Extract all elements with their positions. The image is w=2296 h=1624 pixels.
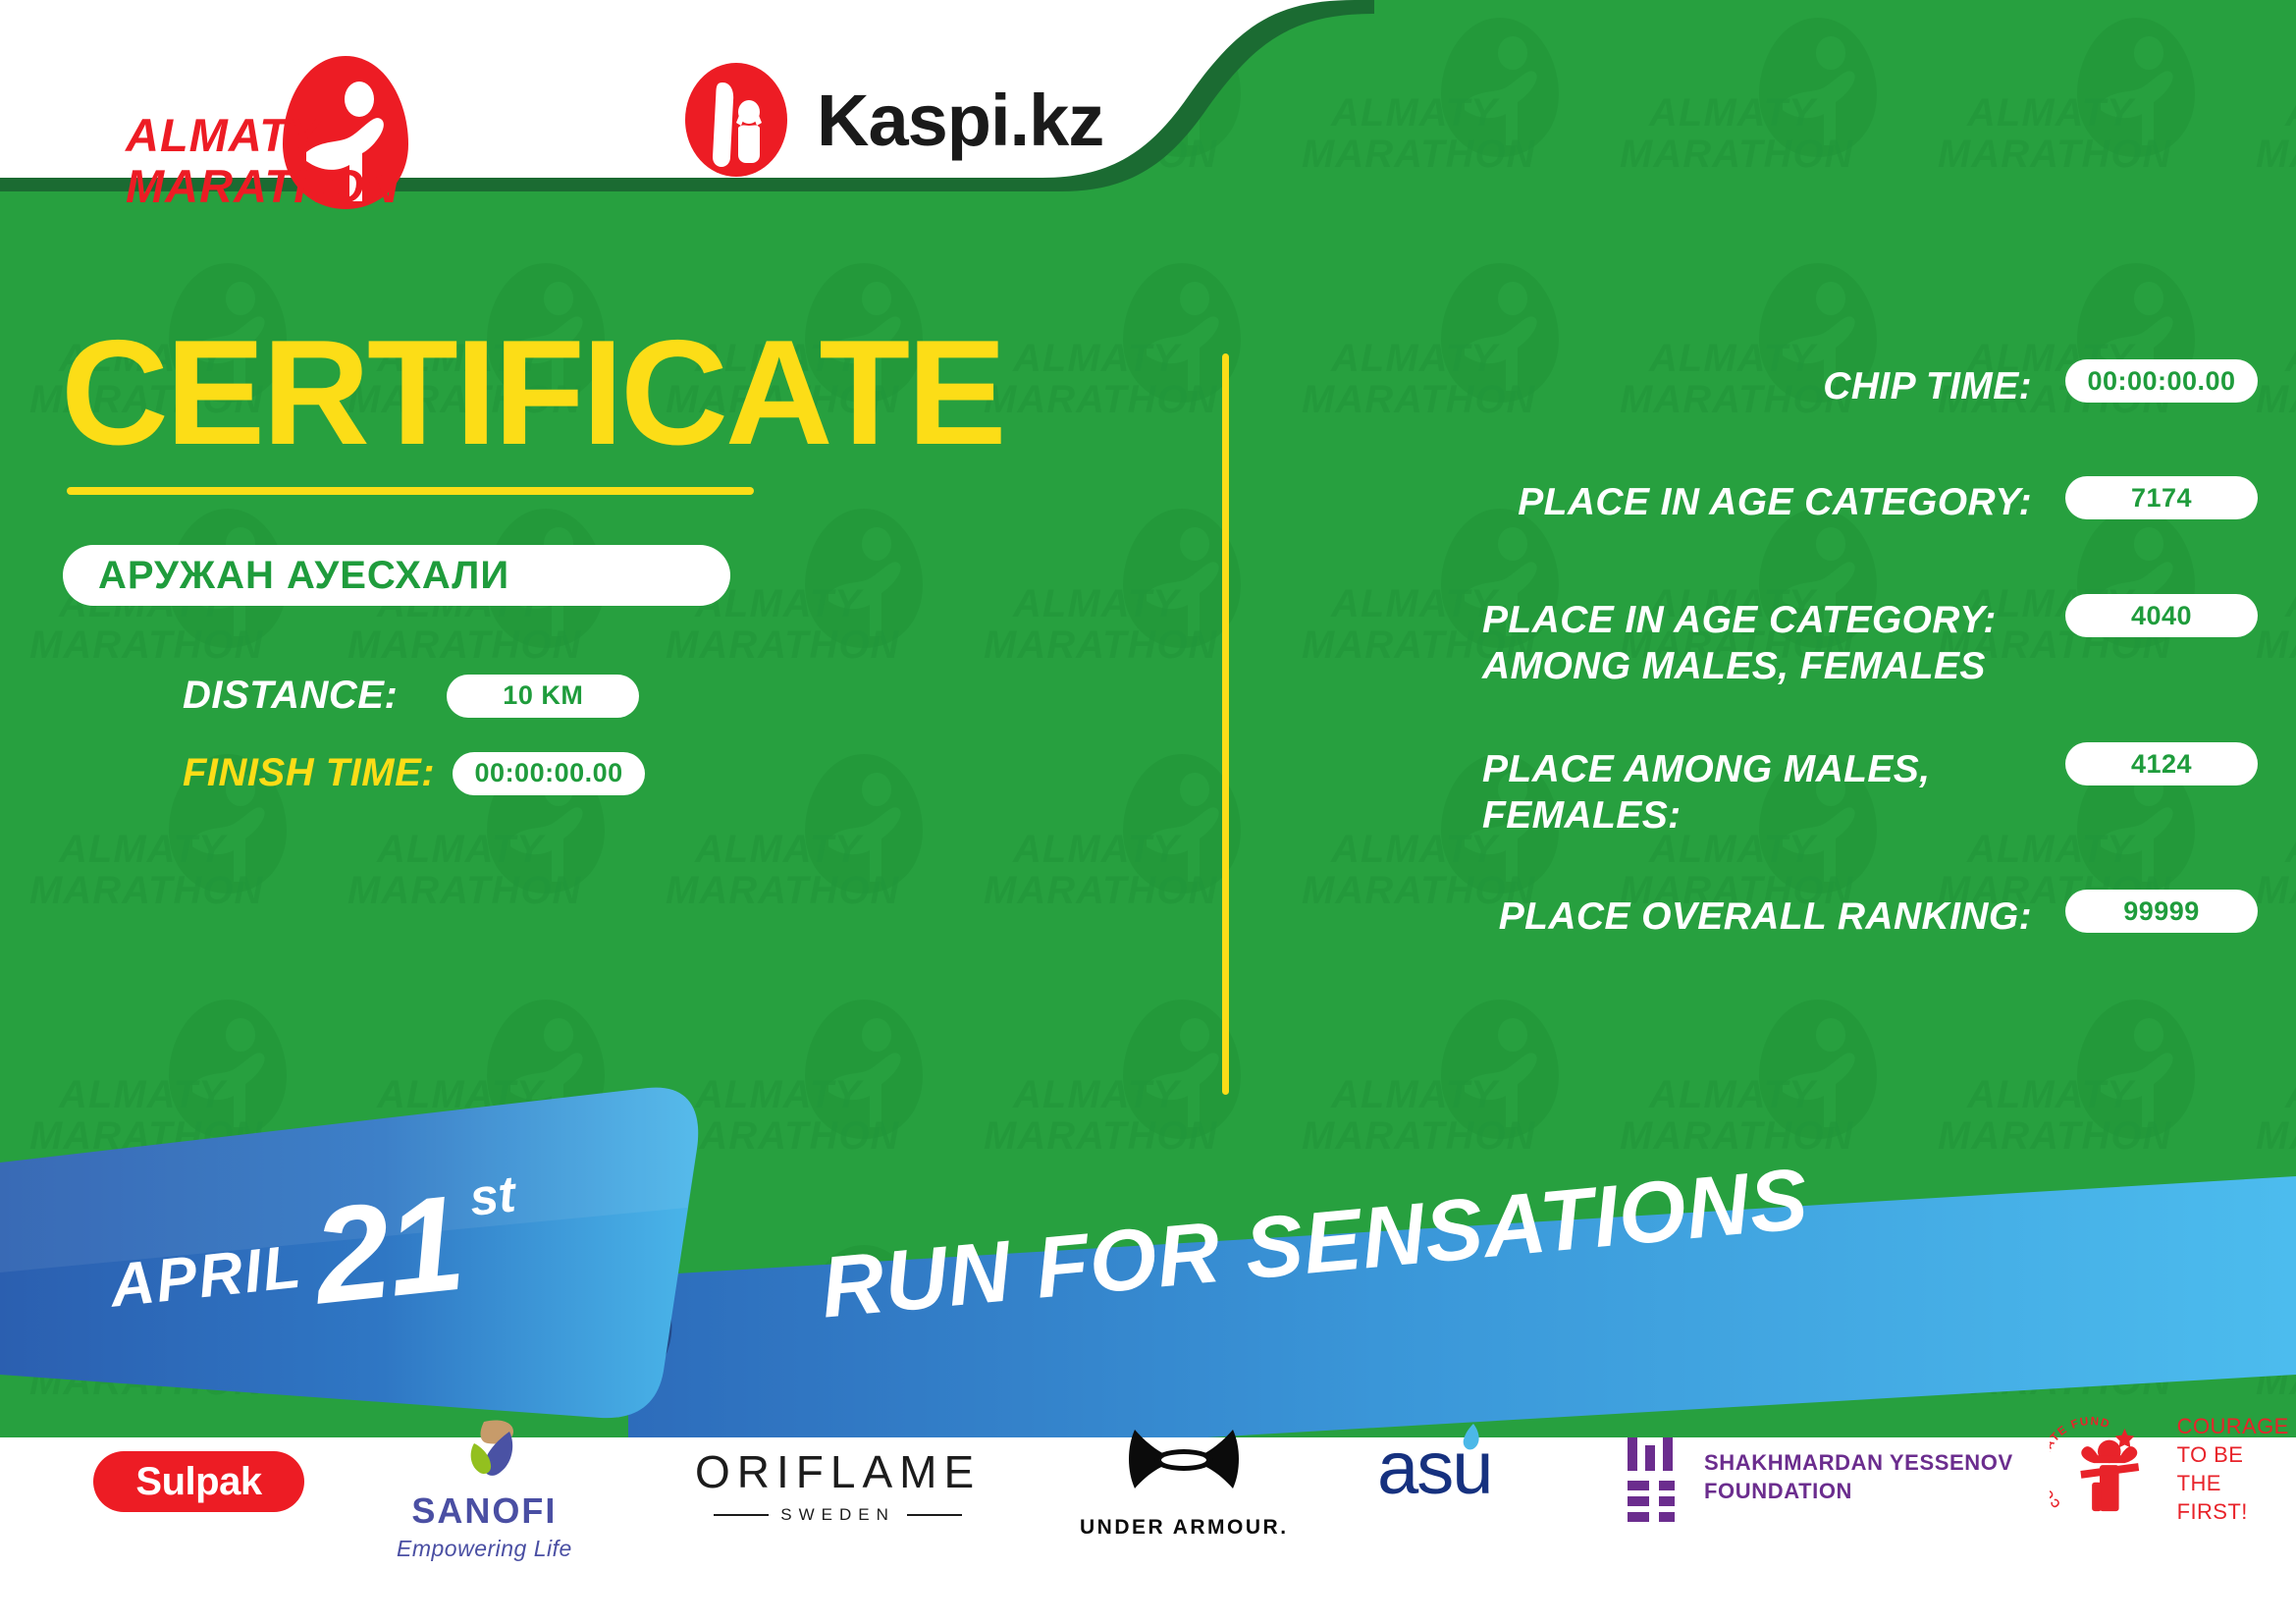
certificate-root: ALMATY MARATHON ALMATY MARATHON: [0, 0, 2296, 1624]
left-panel: CERTIFICATE АРУЖАН АУЕСХАЛИ DISTANCE: 10…: [0, 295, 1222, 1149]
metric-value-pill: 99999: [2065, 890, 2258, 933]
sponsor-yessenov-foundation: SHAKHMARDAN YESSENOV FOUNDATION: [1620, 1432, 2013, 1522]
metric-value-pill: 4124: [2065, 742, 2258, 785]
sponsor-sanofi: SANOFI Empowering Life: [397, 1416, 572, 1562]
courage-line2: TO BE: [2177, 1440, 2296, 1469]
distance-value-pill: 10 KM: [447, 675, 639, 718]
oriflame-wordmark: ORIFLAME: [695, 1445, 981, 1498]
sponsor-asu: asu: [1377, 1426, 1492, 1511]
column-divider: [1222, 353, 1229, 1095]
almaty-marathon-wordmark: ALMATY MARATHON: [126, 110, 400, 212]
metric-label: PLACE AMONG MALES, FEMALES:: [1482, 746, 1993, 839]
sponsor-oriflame: ORIFLAME SWEDEN: [695, 1445, 981, 1525]
metric-label: PLACE OVERALL RANKING:: [1499, 893, 2032, 940]
oriflame-country: SWEDEN: [780, 1505, 895, 1525]
finish-time-value: 00:00:00.00: [475, 758, 623, 788]
finish-time-row: FINISH TIME: 00:00:00.00: [183, 751, 645, 795]
kaspi-wordmark: Kaspi.kz: [817, 79, 1103, 162]
metric-value: 00:00:00.00: [2087, 366, 2235, 397]
under-armour-wordmark: UNDER ARMOUR.: [1080, 1516, 1289, 1540]
finish-time-label: FINISH TIME:: [183, 751, 435, 795]
sanofi-tagline: Empowering Life: [397, 1536, 572, 1562]
yessenov-icon: [1620, 1432, 1684, 1522]
metric-row: CHIP TIME: 00:00:00.00: [1276, 363, 2258, 479]
distance-label: DISTANCE:: [183, 674, 398, 718]
metric-row: PLACE IN AGE CATEGORY: AMONG MALES, FEMA…: [1276, 597, 2258, 746]
distance-value: 10 KM: [503, 680, 583, 711]
sanofi-wordmark: SANOFI: [411, 1490, 557, 1532]
metric-value: 4040: [2131, 601, 2192, 631]
kaspi-logo: Kaspi.kz: [677, 61, 1103, 179]
marathon-logo-line2: MARATHON: [126, 161, 400, 212]
courage-fund-icon: CORPORATE FUND: [2050, 1414, 2163, 1524]
right-panel: CHIP TIME: 00:00:00.00 PLACE IN AGE CATE…: [1276, 363, 2258, 992]
metric-row: PLACE OVERALL RANKING: 99999: [1276, 893, 2258, 992]
metric-value-pill: 4040: [2065, 594, 2258, 637]
metric-value-pill: 00:00:00.00: [2065, 359, 2258, 403]
participant-name-value: АРУЖАН АУЕСХАЛИ: [98, 554, 509, 598]
yessenov-line2: FOUNDATION: [1704, 1477, 2013, 1505]
sanofi-icon: [439, 1416, 529, 1490]
sponsor-courage-fund: CORPORATE FUND COURAGE TO BE THE FIRST!: [2050, 1412, 2296, 1526]
metric-value-pill: 7174: [2065, 476, 2258, 519]
finish-time-value-pill: 00:00:00.00: [453, 752, 645, 795]
courage-line3: THE FIRST!: [2177, 1469, 2296, 1526]
oriflame-rule-left: [714, 1514, 769, 1516]
marathon-logo-line1: ALMATY: [126, 110, 400, 161]
metric-value: 4124: [2131, 749, 2192, 780]
courage-wordmark: COURAGE TO BE THE FIRST!: [2177, 1412, 2296, 1526]
oriflame-sub: SWEDEN: [714, 1505, 962, 1525]
metric-label: PLACE IN AGE CATEGORY: AMONG MALES, FEMA…: [1482, 597, 2032, 689]
title-divider: [67, 487, 754, 495]
distance-row: DISTANCE: 10 KM: [183, 674, 639, 718]
page-title: CERTIFICATE: [61, 319, 1004, 466]
kaspi-icon: [677, 61, 795, 179]
asu-droplet-icon: [1450, 1420, 1493, 1463]
sponsor-sulpak: Sulpak: [93, 1451, 304, 1512]
oriflame-rule-right: [907, 1514, 962, 1516]
yessenov-line1: SHAKHMARDAN YESSENOV: [1704, 1448, 2013, 1477]
metric-label: PLACE IN AGE CATEGORY:: [1518, 479, 2032, 525]
participant-name-field: АРУЖАН АУЕСХАЛИ: [63, 545, 730, 606]
yessenov-wordmark: SHAKHMARDAN YESSENOV FOUNDATION: [1704, 1448, 2013, 1505]
metric-value: 99999: [2123, 896, 2200, 927]
courage-line1: COURAGE: [2177, 1412, 2296, 1440]
metric-value: 7174: [2131, 483, 2192, 514]
sulpak-wordmark: Sulpak: [135, 1460, 261, 1504]
under-armour-icon: [1105, 1422, 1262, 1512]
ribbon-day: 21: [309, 1185, 467, 1316]
header-logos: ALMATY MARATHON Kaspi.kz: [0, 0, 1178, 255]
metric-row: PLACE IN AGE CATEGORY: 7174: [1276, 479, 2258, 597]
sponsor-bar: Sulpak SANOFI Empowering Life ORIFLAME S…: [0, 1437, 2296, 1624]
metric-row: PLACE AMONG MALES, FEMALES: 4124: [1276, 746, 2258, 893]
sponsor-under-armour: UNDER ARMOUR.: [1080, 1422, 1289, 1540]
metric-label: CHIP TIME:: [1823, 363, 2032, 409]
